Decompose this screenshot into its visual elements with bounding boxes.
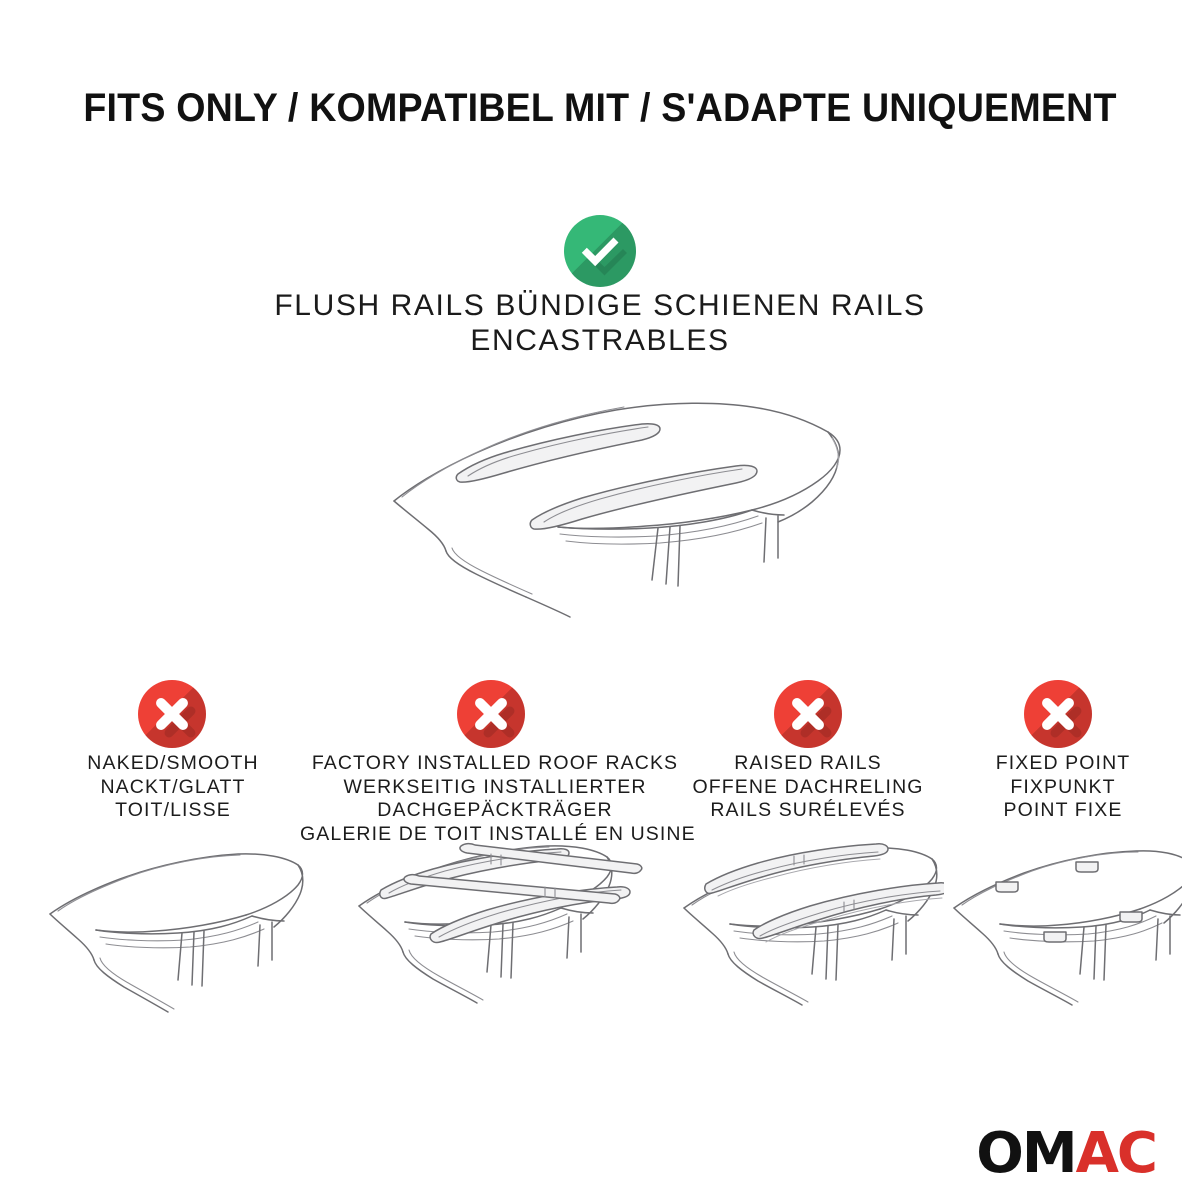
primary-caption-line-de: BÜNDIGE SCHIENEN [495, 289, 821, 322]
car-roof-fixed-point-illustration [944, 842, 1182, 1037]
check-mark-glyph [564, 215, 636, 287]
primary-caption: FLUSH RAILS BÜNDIGE SCHIENEN RAILS ENCAS… [250, 288, 950, 358]
car-roof-raised-rails-illustration [672, 838, 944, 1033]
page-title: FITS ONLY / KOMPATIBEL MIT / S'ADAPTE UN… [36, 86, 1164, 131]
car-roof-naked-illustration [42, 848, 304, 1038]
x-mark-glyph [1024, 680, 1092, 748]
car-roof-flush-rails-illustration [380, 398, 850, 633]
x-circle-icon [457, 680, 525, 748]
omac-logo: OMAC [976, 1126, 1156, 1182]
caption-line-en: NAKED/SMOOTH [42, 752, 304, 776]
caption-line-en: FACTORY INSTALLED ROOF RACKS [300, 752, 690, 776]
caption-line-fr: RAILS SURÉLEVÉS [672, 799, 944, 823]
check-circle-icon [564, 215, 636, 287]
car-roof-factory-racks-illustration [300, 832, 690, 1032]
caption-line-de: OFFENE DACHRELING [672, 776, 944, 800]
x-mark-glyph [457, 680, 525, 748]
x-mark-glyph [774, 680, 842, 748]
caption-line-fr: POINT FIXE [944, 799, 1182, 823]
caption-line-en: RAISED RAILS [672, 752, 944, 776]
logo-text-ac: AC [1076, 1121, 1156, 1186]
x-circle-icon [774, 680, 842, 748]
infographic-page: FITS ONLY / KOMPATIBEL MIT / S'ADAPTE UN… [0, 0, 1200, 1200]
option-caption: NAKED/SMOOTH NACKT/GLATT TOIT/LISSE [42, 752, 304, 823]
option-caption: FIXED POINT FIXPUNKT POINT FIXE [944, 752, 1182, 823]
primary-caption-line-en: FLUSH RAILS [274, 289, 485, 322]
caption-line-de-1: WERKSEITIG INSTALLIERTER [300, 776, 690, 800]
caption-line-fr: TOIT/LISSE [42, 799, 304, 823]
caption-line-de: NACKT/GLATT [42, 776, 304, 800]
x-circle-icon [138, 680, 206, 748]
caption-line-de: FIXPUNKT [944, 776, 1182, 800]
x-mark-glyph [138, 680, 206, 748]
option-caption: RAISED RAILS OFFENE DACHRELING RAILS SUR… [672, 752, 944, 823]
caption-line-en: FIXED POINT [944, 752, 1182, 776]
caption-line-de-2: DACHGEPÄCKTRÄGER [300, 799, 690, 823]
logo-text-om: OM [976, 1121, 1075, 1186]
x-circle-icon [1024, 680, 1092, 748]
